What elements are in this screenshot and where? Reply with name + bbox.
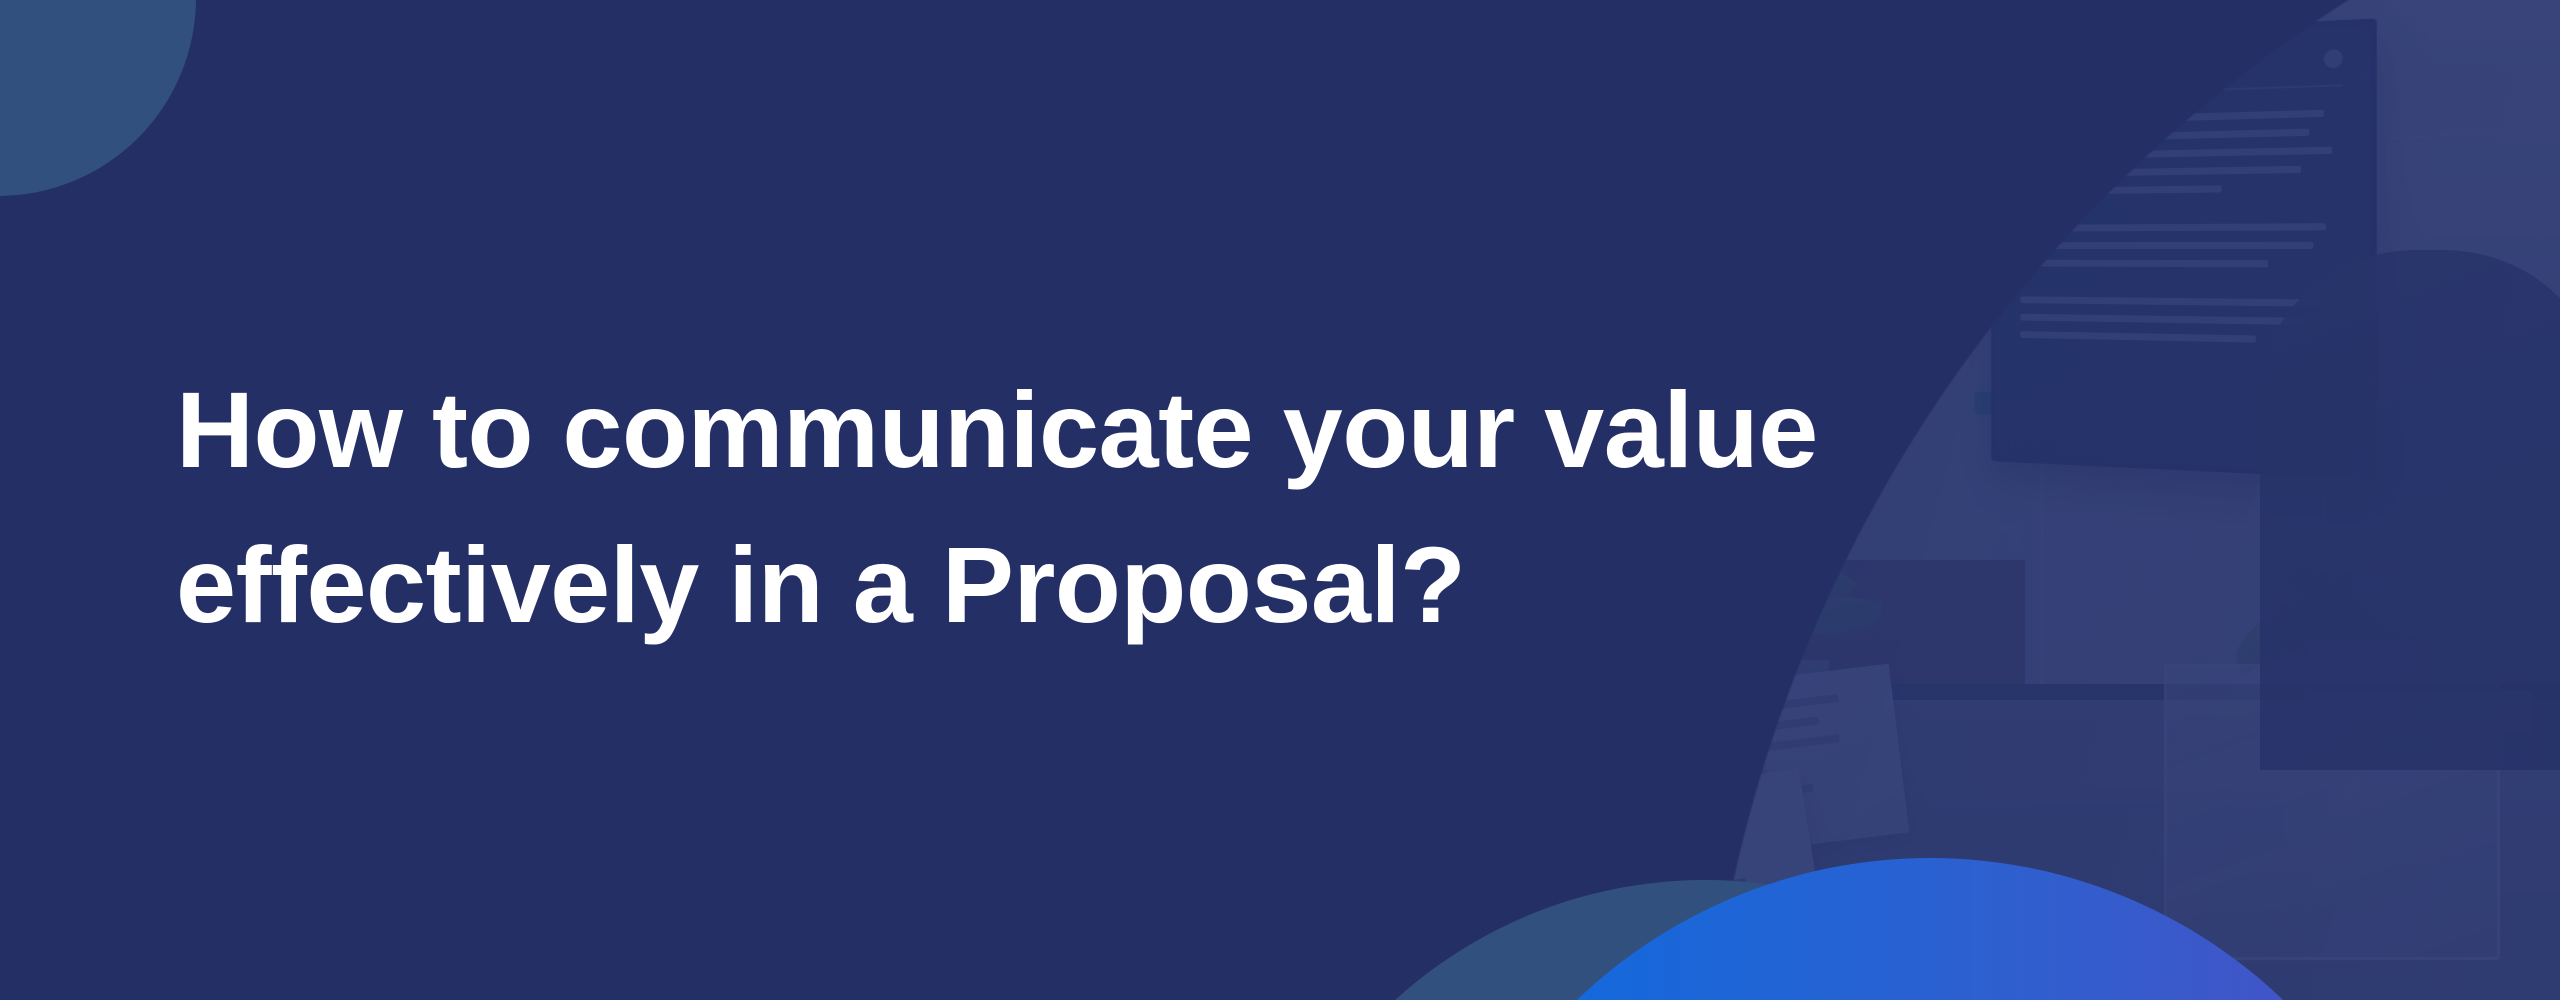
page-title: How to communicate your value effectivel…	[176, 352, 1818, 662]
hero-banner: How to communicate your value effectivel…	[0, 0, 2560, 1000]
headline-line-1: How to communicate your value	[176, 352, 1818, 507]
headline-line-2: effectively in a Proposal?	[176, 507, 1818, 662]
